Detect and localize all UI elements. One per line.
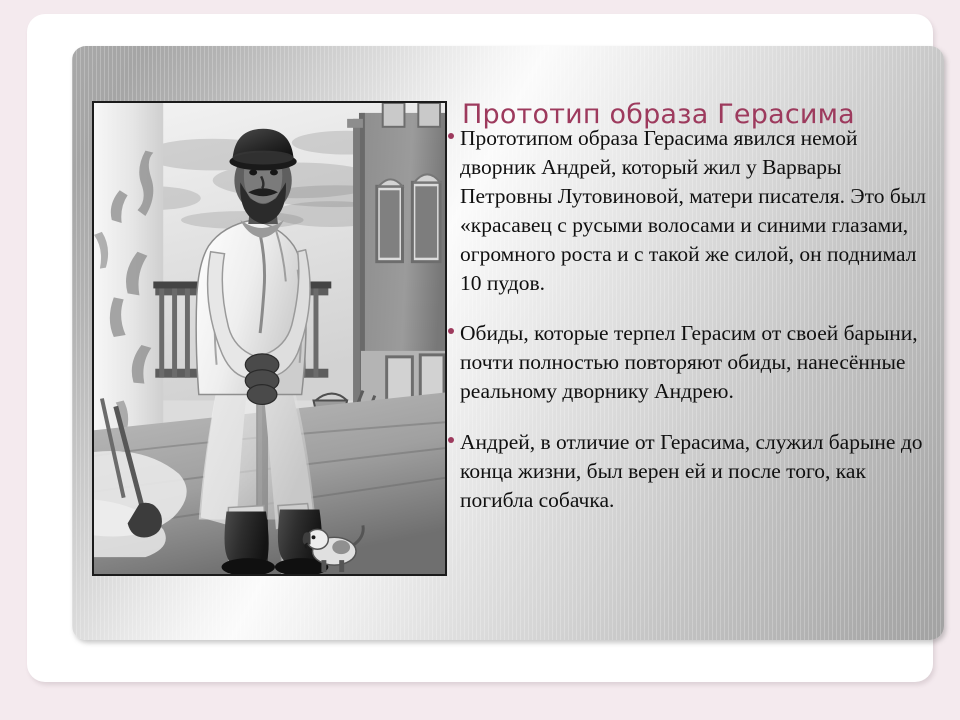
bullet-text-3: Андрей, в отличие от Герасима, служил ба… bbox=[460, 428, 932, 515]
gerasim-illustration bbox=[92, 101, 447, 576]
slide-body-text: Прототипом образа Герасима явился немой … bbox=[448, 124, 932, 515]
bullet-item-3: Андрей, в отличие от Герасима, служил ба… bbox=[448, 428, 932, 515]
bullet-text-1: Прототипом образа Герасима явился немой … bbox=[460, 124, 932, 297]
bullet-dot-icon bbox=[448, 133, 454, 139]
bullet-dot-icon bbox=[448, 328, 454, 334]
bullet-item-1: Прототипом образа Герасима явился немой … bbox=[448, 124, 932, 297]
bullet-item-2: Обиды, которые терпел Герасим от своей б… bbox=[448, 319, 932, 406]
bullet-text-2: Обиды, которые терпел Герасим от своей б… bbox=[460, 319, 932, 406]
bullet-dot-icon bbox=[448, 437, 454, 443]
slide-content-panel: Прототип образа Герасима Прототипом обра… bbox=[72, 46, 944, 640]
slide-frame: Прототип образа Герасима Прототипом обра… bbox=[27, 14, 933, 682]
